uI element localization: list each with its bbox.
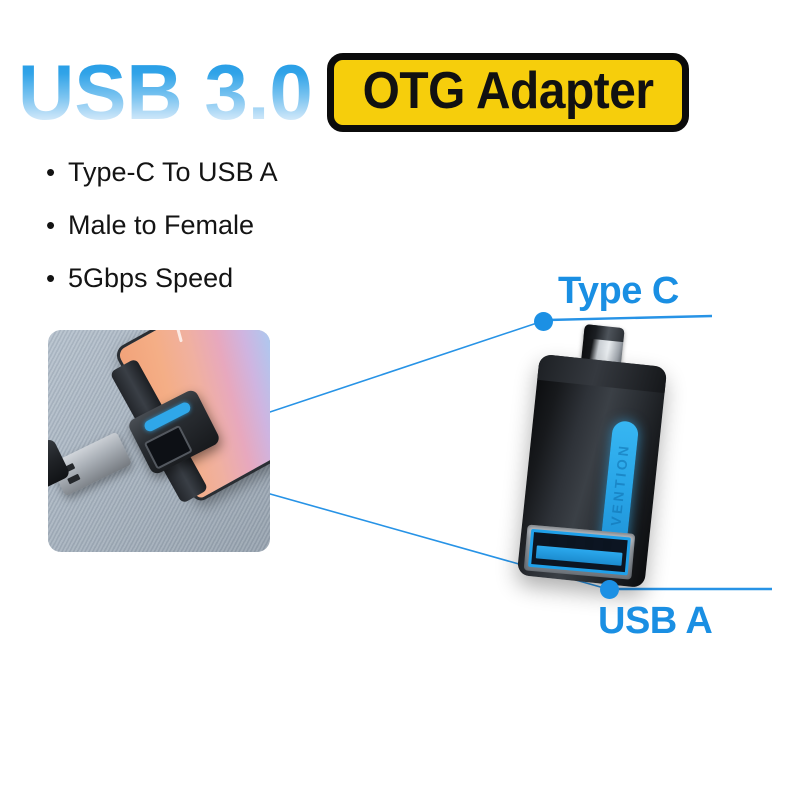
otg-adapter-product: VENTION <box>520 318 690 608</box>
usb-pin-icon <box>549 535 558 545</box>
feature-list: • Type-C To USB A • Male to Female • 5Gb… <box>46 157 466 316</box>
list-item: • 5Gbps Speed <box>46 263 466 293</box>
brand-label: VENTION <box>607 443 632 527</box>
product-marketing-image: USB 3.0 OTG Adapter • Type-C To USB A • … <box>0 0 800 800</box>
otg-adapter-badge: OTG Adapter <box>327 53 689 132</box>
otg-adapter-badge-label: OTG Adapter <box>362 63 653 119</box>
feature-label: Type-C To USB A <box>68 157 278 187</box>
bullet-icon: • <box>46 212 54 238</box>
header: USB 3.0 OTG Adapter <box>18 44 689 140</box>
feature-label: Male to Female <box>68 210 254 240</box>
list-item: • Type-C To USB A <box>46 157 466 187</box>
feature-label: 5Gbps Speed <box>68 263 233 293</box>
usb-a-female-port <box>524 525 636 580</box>
phone-highlight <box>176 330 184 342</box>
page-title: USB 3.0 <box>18 49 323 135</box>
adapter-top-face <box>537 354 667 393</box>
usage-photo <box>48 330 270 552</box>
callout-label-usb-a: USB A <box>598 600 712 642</box>
usb-pin-icon <box>67 474 80 485</box>
bullet-icon: • <box>46 159 54 185</box>
callout-label-type-c: Type C <box>558 270 679 312</box>
list-item: • Male to Female <box>46 210 466 240</box>
adapter-body: VENTION <box>517 354 668 588</box>
usb-pin-icon <box>585 539 594 549</box>
usb-pin-icon <box>567 537 576 547</box>
usb-a-port-cavity <box>528 529 631 576</box>
callout-dot-usb-a <box>600 580 619 599</box>
usb-c-plug-tip <box>583 324 624 342</box>
callout-dot-type-c <box>534 312 553 331</box>
bullet-icon: • <box>46 265 54 291</box>
usb-pin-icon <box>603 540 612 550</box>
